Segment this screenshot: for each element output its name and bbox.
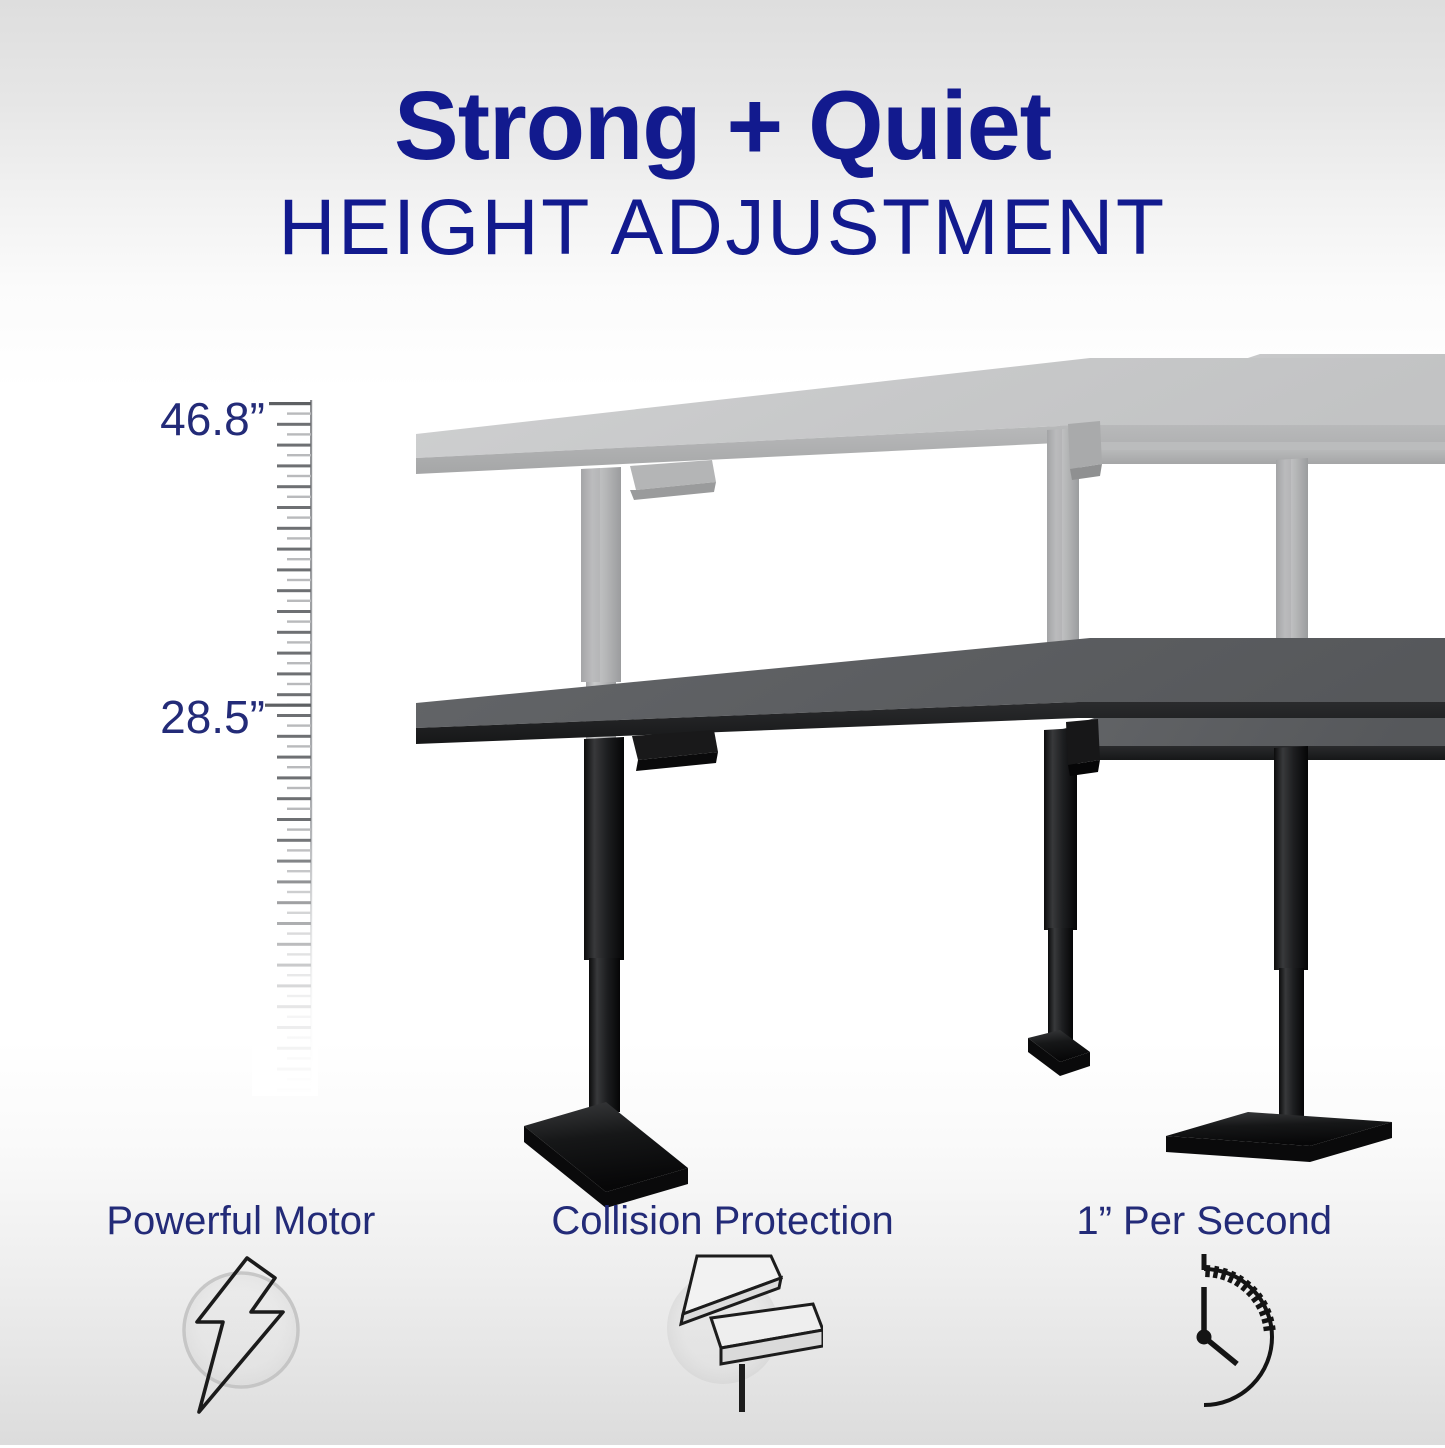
raised-corner-bracket [1068,421,1102,480]
feature-collision-protection: Collision Protection [482,1198,964,1448]
lowered-foot-return [1166,1112,1392,1162]
page-title: Strong + Quiet HEIGHT ADJUSTMENT [0,74,1445,272]
headline-secondary: HEIGHT ADJUSTMENT [0,182,1445,272]
feature-label: Powerful Motor [106,1198,375,1244]
lowered-desk [416,638,1445,1208]
feature-row: Powerful Motor Collision Protection [0,1198,1445,1448]
raised-leg-return [1276,458,1308,660]
lightning-bolt-icon [151,1252,331,1432]
infographic-canvas: Strong + Quiet HEIGHT ADJUSTMENT 46.8” 2… [0,0,1445,1445]
lowered-control-panel [632,730,718,771]
feature-powerful-motor: Powerful Motor [0,1198,482,1448]
lowered-foot-left [524,1102,688,1208]
lowered-foot-corner [1028,1030,1090,1076]
raised-leg-left [581,467,621,682]
raised-control-panel [630,460,716,500]
lowered-corner-bracket [1066,719,1100,776]
lowered-leg-left [584,737,624,960]
feature-label: Collision Protection [551,1198,893,1244]
feature-speed: 1” Per Second [963,1198,1445,1448]
standing-desk-illustration [0,330,1445,1210]
feature-label: 1” Per Second [1076,1198,1332,1244]
clock-icon [1109,1252,1299,1442]
lowered-leg-return [1274,746,1308,1120]
lowered-leg-left-lower [589,958,620,1112]
colliding-surfaces-icon [623,1252,823,1432]
headline-primary: Strong + Quiet [0,74,1445,178]
